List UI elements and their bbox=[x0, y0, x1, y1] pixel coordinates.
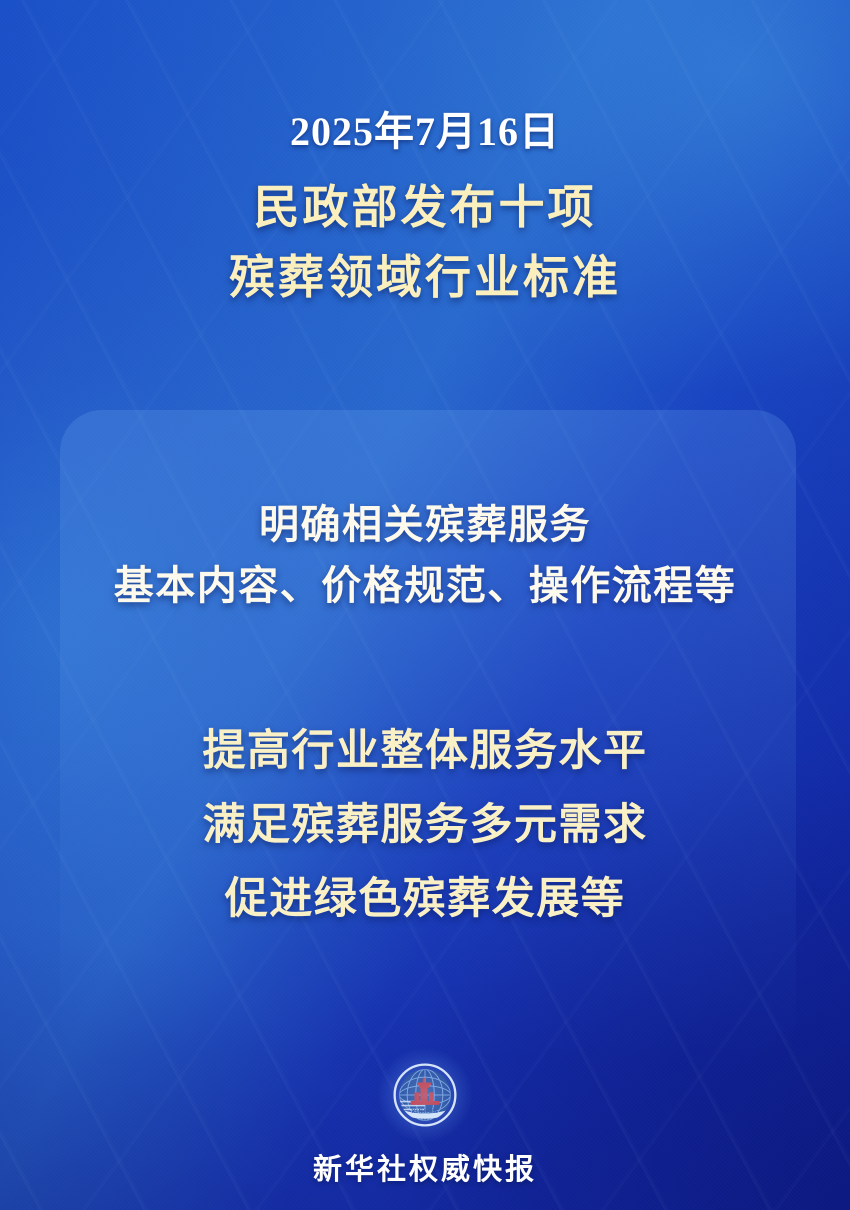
xinhua-logo: XINHUA bbox=[392, 1062, 458, 1128]
poster-footer: XINHUA 新华社权威快报 bbox=[0, 1062, 850, 1188]
content-line: 促进绿色殡葬发展等 bbox=[0, 863, 850, 937]
content-group-intro: 明确相关殡葬服务 基本内容、价格规范、操作流程等 bbox=[0, 410, 850, 617]
poster-body: 明确相关殡葬服务 基本内容、价格规范、操作流程等 提高行业整体服务水平 满足殡葬… bbox=[0, 410, 850, 936]
poster-header: 2025年7月16日 民政部发布十项 殡葬领域行业标准 bbox=[0, 0, 850, 313]
content-group-effects: 提高行业整体服务水平 满足殡葬服务多元需求 促进绿色殡葬发展等 bbox=[0, 617, 850, 937]
content-line: 基本内容、价格规范、操作流程等 bbox=[0, 556, 850, 617]
content-line: 提高行业整体服务水平 bbox=[0, 715, 850, 789]
content-line: 明确相关殡葬服务 bbox=[0, 495, 850, 556]
logo-glow bbox=[378, 1048, 472, 1142]
page-title-line-1: 民政部发布十项 bbox=[0, 173, 850, 243]
publication-date: 2025年7月16日 bbox=[0, 108, 850, 155]
page-title-line-2: 殡葬领域行业标准 bbox=[0, 243, 850, 313]
publisher-label: 新华社权威快报 bbox=[0, 1146, 850, 1188]
news-poster: 2025年7月16日 民政部发布十项 殡葬领域行业标准 明确相关殡葬服务 基本内… bbox=[0, 0, 850, 1210]
content-line: 满足殡葬服务多元需求 bbox=[0, 789, 850, 863]
